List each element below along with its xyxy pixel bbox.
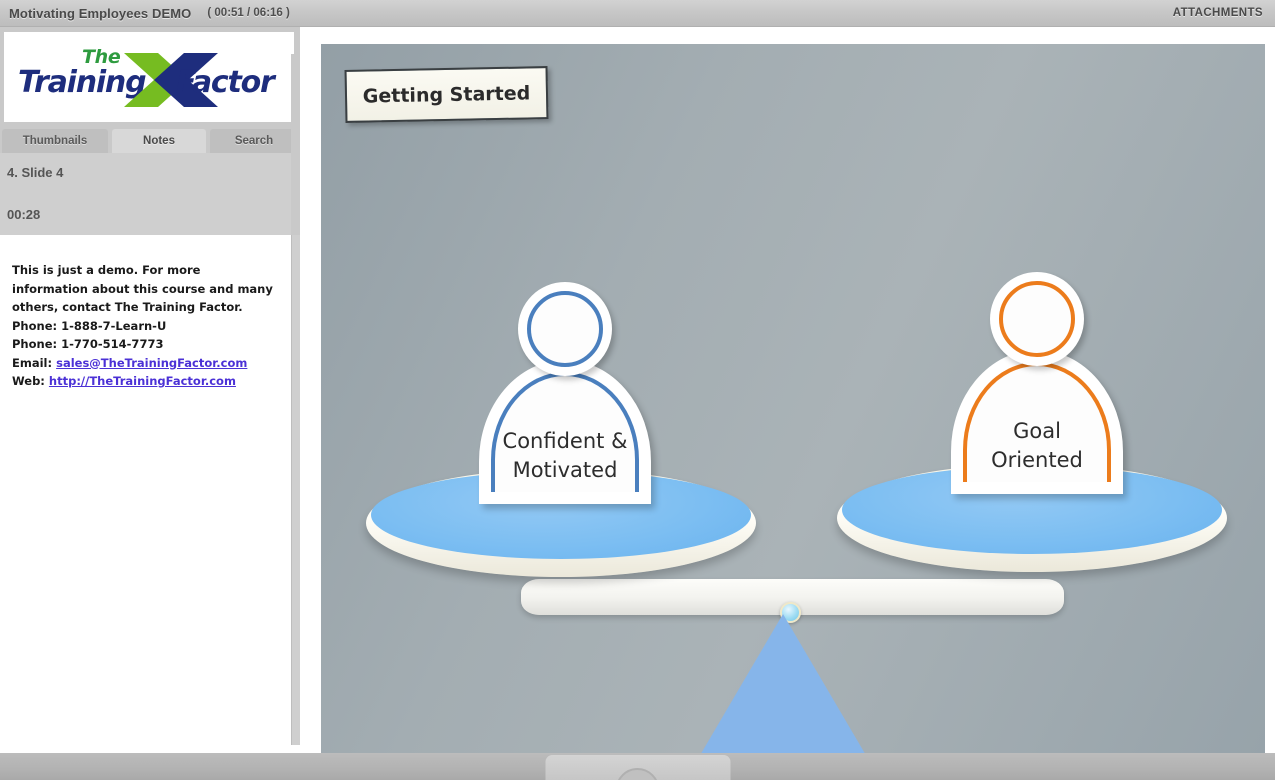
slide-title-card: Getting Started [345,66,549,123]
notes-web-link[interactable]: http://TheTrainingFactor.com [49,374,236,388]
current-slide-label: 4. Slide 4 [7,165,63,180]
sidebar-tabstrip: Thumbnails Notes Search [0,126,300,153]
person-left-head-icon [518,282,612,376]
notes-text: This is just a demo. For more informatio… [12,261,277,391]
notes-panel: This is just a demo. For more informatio… [0,235,291,753]
notes-email-line: Email: sales@TheTrainingFactor.com [12,354,277,373]
notes-phone-secondary: Phone: 1-770-514-7773 [12,335,277,354]
notes-email-link[interactable]: sales@TheTrainingFactor.com [56,356,247,370]
slide-stage: Getting Started Confident & Motivated [300,27,1275,753]
notes-email-prefix: Email: [12,356,56,370]
slide-title-label: Getting Started [363,82,531,107]
person-left-body: Confident & Motivated [479,360,651,504]
notes-web-prefix: Web: [12,374,49,388]
training-factor-logo: The Training Factor [10,41,288,113]
slide-elapsed-time: 00:28 [7,207,40,222]
person-figure-confident-motivated: Confident & Motivated [479,282,651,504]
person-left-label: Confident & Motivated [503,427,628,485]
play-button-icon[interactable] [616,768,660,780]
person-left-head-ring [527,291,603,367]
tab-notes-label: Notes [143,135,175,147]
stage-bottom-margin [0,745,300,753]
tab-thumbnails[interactable]: Thumbnails [2,129,108,153]
sidebar-rail [291,54,300,235]
tab-thumbnails-label: Thumbnails [23,135,88,147]
person-left-body-inner: Confident & Motivated [491,372,639,492]
title-bar: Motivating Employees DEMO ( 00:51 / 06:1… [0,0,1275,27]
notes-intro-paragraph: This is just a demo. For more informatio… [12,261,277,317]
person-right-body-inner: Goal Oriented [963,362,1111,482]
person-right-label: Goal Oriented [991,417,1083,475]
sidebar: The Training Factor Thumbnails Notes Sea… [0,27,300,753]
player-control-bar[interactable] [0,753,1275,780]
person-right-body: Goal Oriented [951,350,1123,494]
time-readout: ( 00:51 / 06:16 ) [207,7,289,19]
notes-phone-primary: Phone: 1-888-7-Learn-U [12,317,277,336]
notes-web-line: Web: http://TheTrainingFactor.com [12,372,277,391]
course-player-window: Motivating Employees DEMO ( 00:51 / 06:1… [0,0,1275,780]
tab-search-label: Search [235,135,273,147]
player-center-cluster[interactable] [545,755,730,780]
brand-logo-panel: The Training Factor [4,32,294,122]
notes-scrollbar[interactable] [291,235,300,753]
tab-search[interactable]: Search [210,129,298,153]
attachments-button[interactable]: ATTACHMENTS [1173,7,1263,19]
balance-fulcrum-triangle [699,614,867,753]
person-right-head-ring [999,281,1075,357]
tab-notes[interactable]: Notes [112,129,206,153]
logo-word-factor: Factor [176,65,274,100]
slide-canvas: Getting Started Confident & Motivated [321,44,1265,753]
page-title: Motivating Employees DEMO [9,6,191,21]
person-figure-goal-oriented: Goal Oriented [951,272,1123,494]
person-right-head-icon [990,272,1084,366]
slide-meta-panel: 4. Slide 4 00:28 [0,153,300,235]
